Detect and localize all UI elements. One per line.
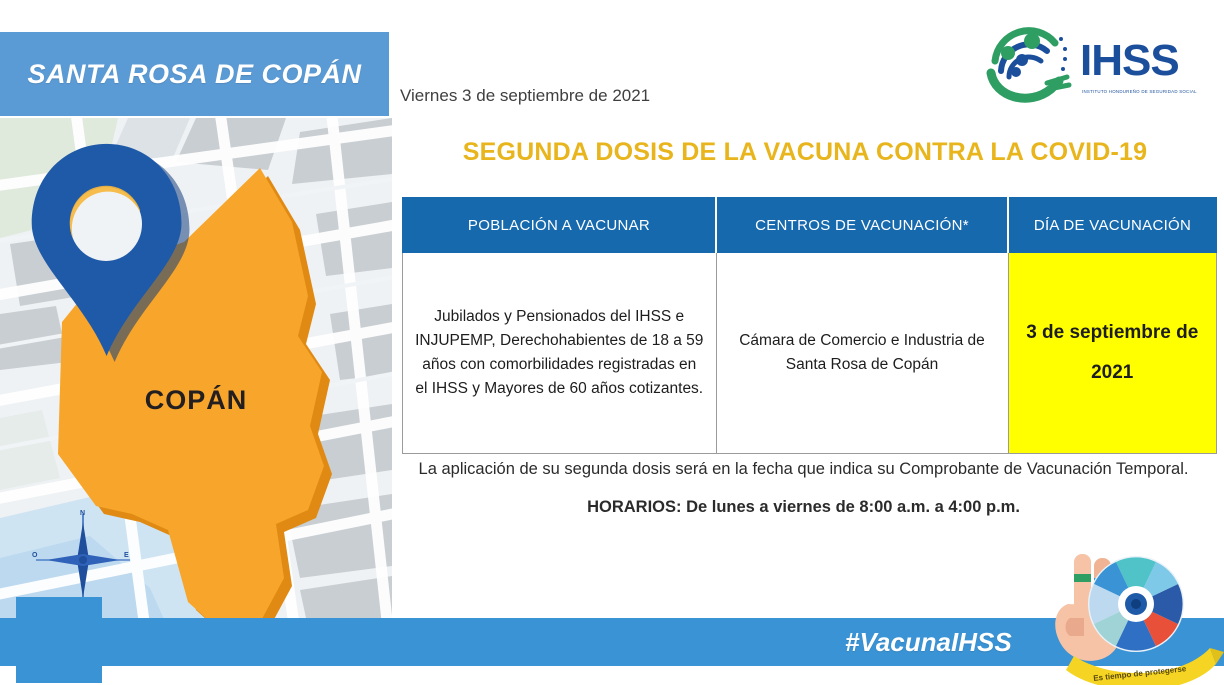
vaccination-schedule-table: POBLACIÓN A VACUNAR CENTROS DE VACUNACIÓ… — [402, 197, 1217, 454]
cell-centro: Cámara de Comercio e Industria de Santa … — [716, 253, 1008, 454]
ihss-wordmark: IHSS — [1080, 39, 1179, 83]
compass-north-label: N — [80, 510, 85, 517]
compass-west-label: O — [32, 552, 37, 559]
table-row: Jubilados y Pensionados del IHSS e INJUP… — [403, 253, 1217, 454]
hand-campaign-illustration: Es tiempo de protegerse — [1040, 552, 1224, 685]
notes-block: La aplicación de su segunda dosis será e… — [402, 455, 1205, 517]
ihss-logo-subtitle: INSTITUTO HONDUREÑO DE SEGURIDAD SOCIAL — [1082, 89, 1197, 94]
map-panel: SANTA ROSA DE COPÁN COPÁN N E O VACUNA C… — [0, 0, 392, 685]
city-title-banner: SANTA ROSA DE COPÁN — [0, 32, 389, 116]
city-title: SANTA ROSA DE COPÁN — [27, 59, 361, 90]
cell-poblacion: Jubilados y Pensionados del IHSS e INJUP… — [403, 253, 717, 454]
column-header-poblacion: POBLACIÓN A VACUNAR — [403, 198, 717, 253]
ihss-logo: IHSS INSTITUTO HONDUREÑO DE SEGURIDAD SO… — [985, 27, 1200, 109]
infographic-root: SANTA ROSA DE COPÁN COPÁN N E O VACUNA C… — [0, 0, 1224, 685]
compass-rose-icon: N E O — [28, 510, 138, 610]
column-header-centros: CENTROS DE VACUNACIÓN* — [716, 198, 1008, 253]
table-header-row: POBLACIÓN A VACUNAR CENTROS DE VACUNACIÓ… — [403, 198, 1217, 253]
date-line: Viernes 3 de septiembre de 2021 — [400, 86, 650, 106]
compass-east-label: E — [124, 552, 129, 559]
cell-dia: 3 de septiembre de 2021 — [1008, 253, 1217, 454]
protection-wheel-icon — [1088, 556, 1184, 652]
note-schedule: HORARIOS: De lunes a viernes de 8:00 a.m… — [402, 498, 1205, 517]
page-title: SEGUNDA DOSIS DE LA VACUNA CONTRA LA COV… — [400, 138, 1210, 167]
ihss-emblem-icon — [985, 27, 1077, 107]
column-header-dia: DÍA DE VACUNACIÓN — [1008, 198, 1217, 253]
note-second-dose: La aplicación de su segunda dosis será e… — [402, 455, 1205, 484]
department-label: COPÁN — [0, 385, 392, 416]
hashtag-label: #VacunaIHSS — [845, 627, 1012, 658]
